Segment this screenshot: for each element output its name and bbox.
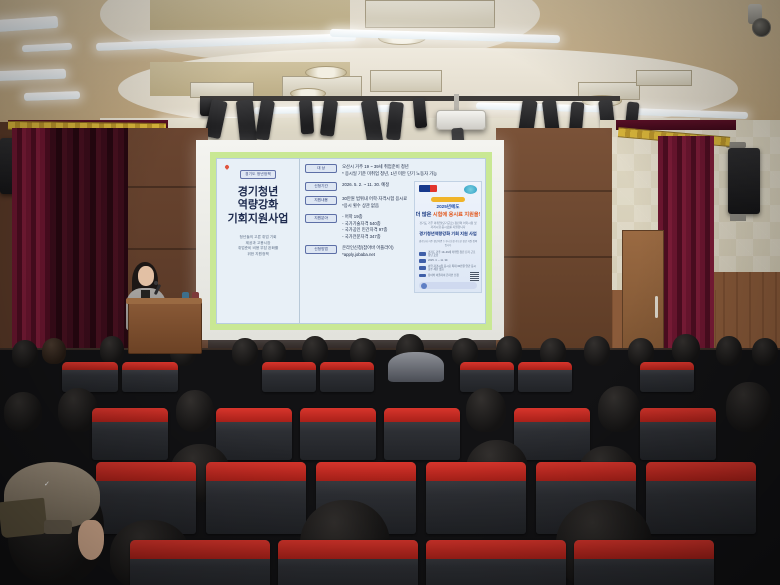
auditorium-seat[interactable] — [426, 540, 566, 585]
seat-headrest — [262, 362, 316, 370]
auditorium-seat[interactable] — [574, 540, 714, 585]
ceiling-camera-icon — [752, 18, 771, 37]
audience-head — [100, 336, 124, 364]
auditorium-seat[interactable] — [426, 462, 526, 534]
seat-headrest — [384, 408, 460, 422]
seat-headrest — [426, 540, 566, 559]
door-handle[interactable] — [655, 296, 658, 318]
auditorium-seat[interactable] — [278, 540, 418, 585]
auditorium-seat[interactable] — [640, 408, 716, 460]
poster-program-sub: 경기도내 거주 청년이면 누구나 신청 가능한 청년 지원 정책입니다 — [415, 240, 481, 247]
seat-headrest — [514, 408, 590, 422]
seat-headrest — [216, 408, 292, 422]
audience-head — [466, 388, 506, 432]
auditorium-seat[interactable] — [518, 362, 572, 392]
backdrop-seam — [496, 190, 612, 192]
poster-item-text: 잡아바 어플라이 온라인 신청 — [428, 274, 459, 277]
slide-row-text: 2026. 5. 2. ~ 11. 30. 예정 — [342, 182, 389, 189]
ceiling-vent-4 — [370, 70, 442, 92]
audience-head — [232, 338, 258, 366]
poster-qr-code — [470, 272, 479, 281]
auditorium-seat[interactable] — [300, 408, 376, 460]
slide-row-label: 지원내용 — [305, 196, 337, 205]
slide-row-text: 온라인신청(잡아바 어플라이) *apply.jobaba.net — [342, 245, 394, 258]
audience-head — [42, 338, 66, 364]
ceiling-downlight-2 — [305, 66, 347, 79]
poster-tagline-chip — [431, 197, 465, 202]
slide-row-text: 오산시 거주 19 ~ 39세 취업준비 청년 * 응시일 기준 미취업 청년,… — [342, 164, 437, 177]
wall-speaker-right — [728, 148, 760, 214]
ceiling-vent — [365, 0, 495, 28]
slide-title-line: 기회지원사업 — [228, 213, 289, 226]
speaker-bracket-bottom — [730, 214, 746, 221]
seat-headrest — [206, 462, 306, 481]
seat-headrest — [640, 362, 694, 370]
slide-row-label: 신청기간 — [305, 182, 337, 191]
slide-left-panel: 경기도 청년정책 경기청년 역량강화 기회지원사업 청년들의 고른 취업 기회 … — [217, 159, 300, 323]
poster-headline-b: 시험에 응시료 지원을! — [433, 212, 481, 218]
flag-icon — [224, 164, 230, 170]
seat-headrest — [536, 462, 636, 481]
slide-row-label: 지원분야 — [305, 214, 337, 223]
podium-top — [126, 298, 202, 304]
stage-backdrop-right — [496, 128, 612, 350]
cap-brim — [0, 498, 48, 539]
poster-headline-a: 더 많은 — [416, 212, 433, 218]
slide-subtitle: 청년들의 고른 취업 기회 제공과 고용시장 취업준비 비용 부담 완화를 위한… — [238, 235, 278, 257]
seat-headrest — [92, 408, 168, 422]
slide-title: 경기청년 역량강화 기회지원사업 — [228, 186, 289, 226]
presentation-slide: 경기도 청년정책 경기청년 역량강화 기회지원사업 청년들의 고른 취업 기회 … — [210, 152, 492, 330]
audience-head — [726, 382, 772, 432]
stage-curtain-right — [658, 136, 714, 356]
seat-headrest — [62, 362, 118, 370]
slide-title-line: 경기청년 — [228, 186, 289, 199]
seat-headrest — [320, 362, 374, 370]
seat-headrest — [518, 362, 572, 370]
audience-head — [672, 334, 700, 364]
poster-headline-main: 더 많은 시험에 응시료 지원을! — [415, 211, 481, 218]
poster-body: 경기도 거주 미취업(단기근로) 청년의 어학시험 및 자격시험 응시료를 지원… — [415, 221, 481, 229]
backdrop-seam — [496, 256, 612, 258]
audience-head — [176, 390, 214, 432]
audience-head — [752, 338, 778, 366]
nike-swoosh-icon: ✓ — [44, 480, 56, 485]
poster-item-chip — [419, 252, 426, 256]
audience-head — [716, 336, 742, 366]
poster-item: 잡아바 어플라이 온라인 신청 — [419, 274, 477, 278]
seat-headrest — [96, 462, 196, 481]
poster-item-text: 어학·자격시험 응시료 최대 30만원 연간 응시 횟수 제한 없음 — [428, 265, 477, 272]
poster-item-chip — [419, 274, 426, 278]
presenter-head — [138, 266, 154, 286]
seat-headrest — [646, 462, 756, 481]
audience-ear — [78, 520, 104, 560]
auditorium-seat[interactable] — [130, 540, 270, 585]
audience-shoulders — [388, 352, 444, 382]
poster-item-chip — [419, 259, 426, 263]
podium — [128, 300, 202, 354]
cap-strap — [44, 520, 72, 534]
seat-headrest — [316, 462, 416, 481]
auditorium-seat[interactable] — [384, 408, 460, 460]
audience-head — [598, 386, 640, 432]
auditorium-seat[interactable] — [646, 462, 756, 534]
seat-headrest — [460, 362, 514, 370]
seat-headrest — [640, 408, 716, 422]
auditorium-seat[interactable] — [216, 408, 292, 460]
slide-row-text: 30만원 범위내 어학·자격시험 응시료 *응시 횟수 상관 없음 — [342, 196, 407, 209]
poster-footer — [419, 282, 477, 289]
seat-headrest — [278, 540, 418, 559]
poster-item: 경기도 거주 19~39세 미취업 청년 단기 근로 청년 포함 — [419, 251, 477, 258]
slide-title-line: 역량강화 — [228, 199, 289, 212]
seat-headrest — [130, 540, 270, 559]
poster-program-title: 경기청년역량강화 기회 지원 사업 — [415, 231, 481, 237]
slide-row-label: 대 상 — [305, 164, 337, 173]
audience-head — [4, 392, 42, 432]
ceiling-texture-panel — [150, 0, 350, 30]
poster-item: 2025. 3. ~ 11. 30. — [419, 259, 477, 263]
auditorium-seat[interactable] — [320, 362, 374, 392]
microphone-head — [154, 281, 158, 285]
poster-item: 어학·자격시험 응시료 최대 30만원 연간 응시 횟수 제한 없음 — [419, 265, 477, 272]
poster-headline-year: 2025년에도 — [415, 204, 481, 210]
auditorium-seat[interactable] — [640, 362, 694, 392]
jobaba-logo-icon — [464, 185, 477, 194]
auditorium-seat[interactable] — [122, 362, 178, 392]
poster-item-text: 경기도 거주 19~39세 미취업 청년 단기 근로 청년 포함 — [428, 251, 477, 258]
seat-headrest — [300, 408, 376, 422]
auditorium-seat[interactable] — [92, 408, 168, 460]
auditorium-seat[interactable] — [206, 462, 306, 534]
ceiling-vent-6 — [636, 70, 692, 86]
stage-light — [299, 100, 314, 135]
audience-head — [12, 340, 38, 368]
auditorium-seat[interactable] — [62, 362, 118, 392]
auditorium-photo: 경기도 청년정책 경기청년 역량강화 기회지원사업 청년들의 고른 취업 기회 … — [0, 0, 780, 585]
slide-row: 대 상 오산시 거주 19 ~ 39세 취업준비 청년 * 응시일 기준 미취업… — [305, 164, 481, 177]
poster-thumbnail: 2025년에도 더 많은 시험에 응시료 지원을! 경기도 거주 미취업(단기근… — [414, 181, 482, 293]
poster-footer-icon — [421, 283, 427, 289]
auditorium-seat[interactable] — [262, 362, 316, 392]
seat-headrest — [574, 540, 714, 559]
auditorium-seat[interactable] — [514, 408, 590, 460]
poster-item-text: 2025. 3. ~ 11. 30. — [428, 259, 448, 262]
seat-headrest — [122, 362, 178, 370]
slide-right-panel: 대 상 오산시 거주 19 ~ 39세 취업준비 청년 * 응시일 기준 미취업… — [300, 159, 485, 323]
gyeonggi-logo-icon — [419, 185, 437, 192]
stage-light — [413, 98, 428, 129]
seat-headrest — [426, 462, 526, 481]
audience-head — [584, 336, 610, 366]
slide-row-label: 신청방법 — [305, 245, 337, 254]
slide-badge: 경기도 청년정책 — [240, 170, 276, 179]
slide-row-text: - 어학 19종 - 국가기술자격 540종 - 국가공인 민간자격 97종 -… — [342, 214, 387, 240]
poster-item-chip — [419, 266, 426, 270]
